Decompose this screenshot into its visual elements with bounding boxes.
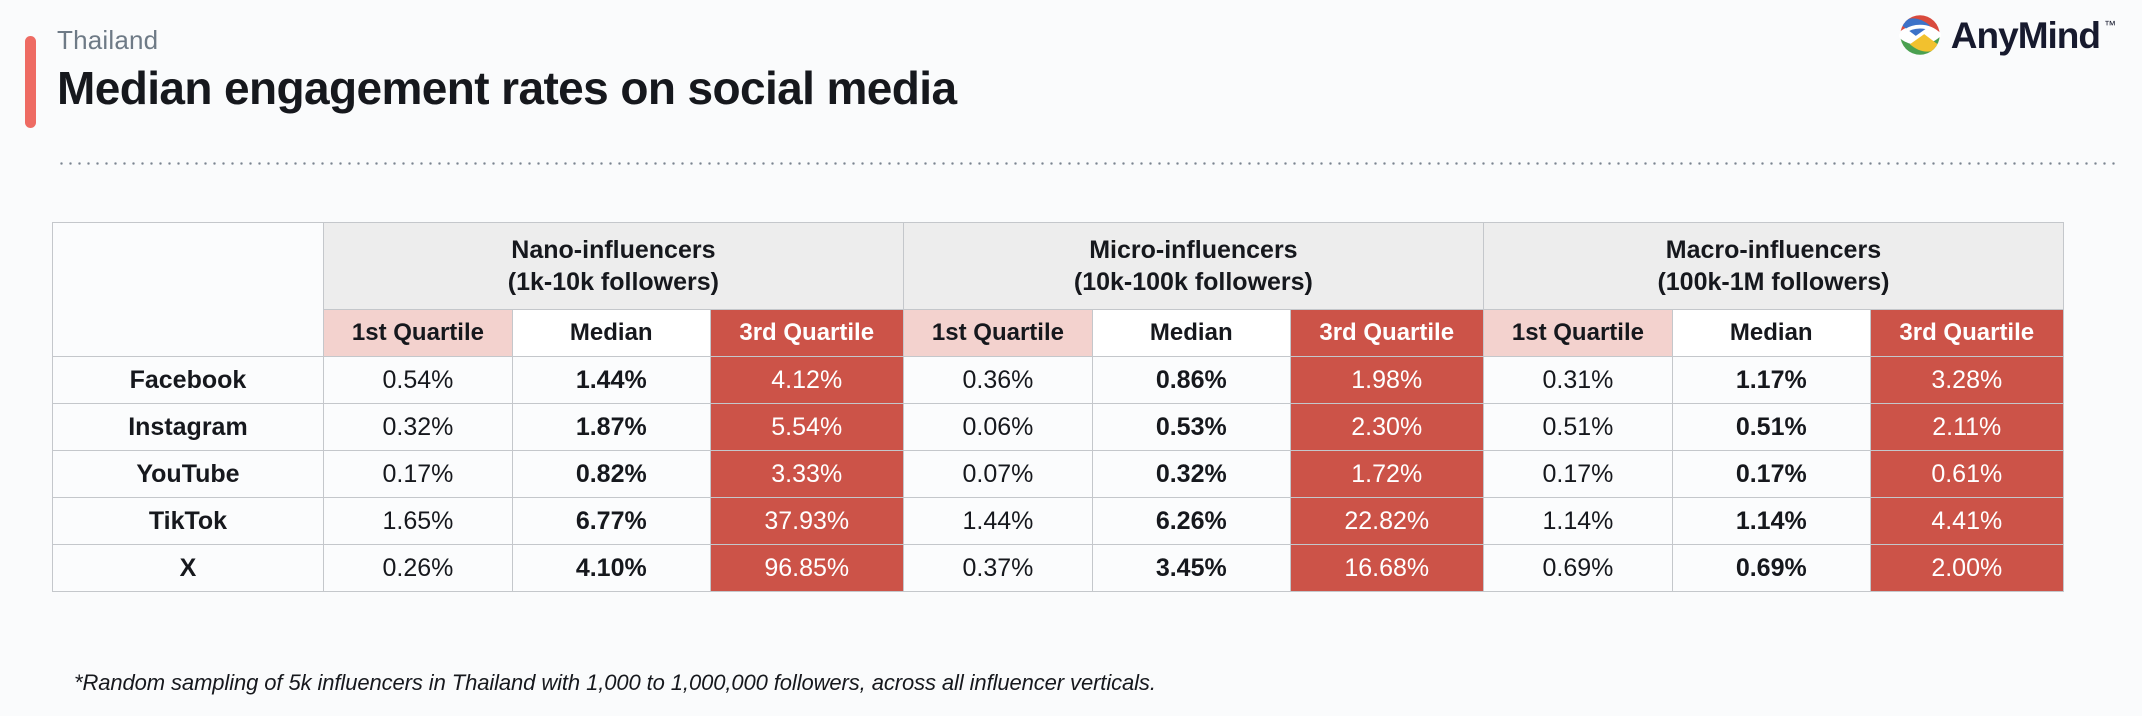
group-range-macro: (100k-1M followers) — [1484, 266, 2063, 298]
cell-tiktok-8: 4.41% — [1870, 498, 2063, 545]
cell-x-5: 16.68% — [1290, 545, 1483, 592]
group-name-micro: Micro-influencers — [1089, 236, 1297, 264]
cell-facebook-4: 0.86% — [1092, 357, 1290, 404]
corner-cell — [53, 223, 324, 357]
cell-youtube-8: 0.61% — [1870, 451, 2063, 498]
footnote: *Random sampling of 5k influencers in Th… — [74, 670, 1156, 696]
table-row: X0.26%4.10%96.85%0.37%3.45%16.68%0.69%0.… — [53, 545, 2064, 592]
row-label-facebook: Facebook — [53, 357, 324, 404]
cell-instagram-7: 0.51% — [1672, 404, 1870, 451]
table-body: Facebook0.54%1.44%4.12%0.36%0.86%1.98%0.… — [53, 357, 2064, 592]
group-range-micro: (10k-100k followers) — [904, 266, 1483, 298]
group-name-nano: Nano-influencers — [511, 236, 715, 264]
cell-facebook-8: 3.28% — [1870, 357, 2063, 404]
cell-facebook-1: 1.44% — [512, 357, 710, 404]
cell-tiktok-5: 22.82% — [1290, 498, 1483, 545]
cell-instagram-1: 1.87% — [512, 404, 710, 451]
cell-tiktok-3: 1.44% — [903, 498, 1092, 545]
cell-youtube-6: 0.17% — [1483, 451, 1672, 498]
subheader-nano-q3: 3rd Quartile — [710, 310, 903, 357]
group-range-nano: (1k-10k followers) — [324, 266, 903, 298]
subheader-macro-q1: 1st Quartile — [1483, 310, 1672, 357]
title-block: Thailand Median engagement rates on soci… — [57, 26, 956, 113]
subheader-row: 1st Quartile Median 3rd Quartile 1st Qua… — [53, 310, 2064, 357]
subheader-micro-q1: 1st Quartile — [903, 310, 1092, 357]
cell-instagram-5: 2.30% — [1290, 404, 1483, 451]
subheader-micro-med: Median — [1092, 310, 1290, 357]
cell-youtube-5: 1.72% — [1290, 451, 1483, 498]
row-label-youtube: YouTube — [53, 451, 324, 498]
cell-instagram-8: 2.11% — [1870, 404, 2063, 451]
row-label-instagram: Instagram — [53, 404, 324, 451]
engagement-rates-table: Nano-influencers (1k-10k followers) Micr… — [52, 222, 2064, 592]
cell-x-4: 3.45% — [1092, 545, 1290, 592]
cell-instagram-2: 5.54% — [710, 404, 903, 451]
cell-tiktok-4: 6.26% — [1092, 498, 1290, 545]
accent-bar — [25, 36, 36, 128]
row-label-tiktok: TikTok — [53, 498, 324, 545]
cell-youtube-0: 0.17% — [323, 451, 512, 498]
anymind-logo-text: AnyMind — [1951, 17, 2100, 54]
cell-tiktok-6: 1.14% — [1483, 498, 1672, 545]
group-header-macro: Macro-influencers (100k-1M followers) — [1483, 223, 2063, 310]
cell-x-6: 0.69% — [1483, 545, 1672, 592]
cell-tiktok-2: 37.93% — [710, 498, 903, 545]
cell-youtube-1: 0.82% — [512, 451, 710, 498]
cell-tiktok-7: 1.14% — [1672, 498, 1870, 545]
page-header: Thailand Median engagement rates on soci… — [0, 0, 2142, 120]
table-row: Facebook0.54%1.44%4.12%0.36%0.86%1.98%0.… — [53, 357, 2064, 404]
cell-facebook-3: 0.36% — [903, 357, 1092, 404]
table-head: Nano-influencers (1k-10k followers) Micr… — [53, 223, 2064, 357]
cell-facebook-6: 0.31% — [1483, 357, 1672, 404]
cell-tiktok-1: 6.77% — [512, 498, 710, 545]
group-header-micro: Micro-influencers (10k-100k followers) — [903, 223, 1483, 310]
subheader-nano-med: Median — [512, 310, 710, 357]
trademark-symbol: ™ — [2104, 18, 2116, 32]
table-row: TikTok1.65%6.77%37.93%1.44%6.26%22.82%1.… — [53, 498, 2064, 545]
cell-instagram-0: 0.32% — [323, 404, 512, 451]
cell-facebook-2: 4.12% — [710, 357, 903, 404]
group-name-macro: Macro-influencers — [1666, 236, 1881, 264]
subheader-nano-q1: 1st Quartile — [323, 310, 512, 357]
row-label-x: X — [53, 545, 324, 592]
cell-tiktok-0: 1.65% — [323, 498, 512, 545]
cell-instagram-6: 0.51% — [1483, 404, 1672, 451]
table-row: YouTube0.17%0.82%3.33%0.07%0.32%1.72%0.1… — [53, 451, 2064, 498]
cell-instagram-3: 0.06% — [903, 404, 1092, 451]
anymind-logo-icon — [1899, 14, 1941, 56]
cell-youtube-4: 0.32% — [1092, 451, 1290, 498]
country-eyebrow: Thailand — [57, 26, 956, 55]
group-header-row: Nano-influencers (1k-10k followers) Micr… — [53, 223, 2064, 310]
cell-youtube-7: 0.17% — [1672, 451, 1870, 498]
cell-facebook-0: 0.54% — [323, 357, 512, 404]
group-header-nano: Nano-influencers (1k-10k followers) — [323, 223, 903, 310]
cell-facebook-7: 1.17% — [1672, 357, 1870, 404]
subheader-macro-med: Median — [1672, 310, 1870, 357]
cell-x-2: 96.85% — [710, 545, 903, 592]
cell-x-8: 2.00% — [1870, 545, 2063, 592]
table-container: Nano-influencers (1k-10k followers) Micr… — [52, 222, 2064, 592]
page-title: Median engagement rates on social media — [57, 64, 956, 114]
cell-x-0: 0.26% — [323, 545, 512, 592]
cell-youtube-3: 0.07% — [903, 451, 1092, 498]
table-row: Instagram0.32%1.87%5.54%0.06%0.53%2.30%0… — [53, 404, 2064, 451]
cell-facebook-5: 1.98% — [1290, 357, 1483, 404]
dotted-divider — [57, 162, 2116, 165]
cell-instagram-4: 0.53% — [1092, 404, 1290, 451]
cell-x-1: 4.10% — [512, 545, 710, 592]
cell-x-7: 0.69% — [1672, 545, 1870, 592]
subheader-macro-q3: 3rd Quartile — [1870, 310, 2063, 357]
cell-x-3: 0.37% — [903, 545, 1092, 592]
subheader-micro-q3: 3rd Quartile — [1290, 310, 1483, 357]
cell-youtube-2: 3.33% — [710, 451, 903, 498]
anymind-logo: AnyMind ™ — [1899, 14, 2116, 56]
